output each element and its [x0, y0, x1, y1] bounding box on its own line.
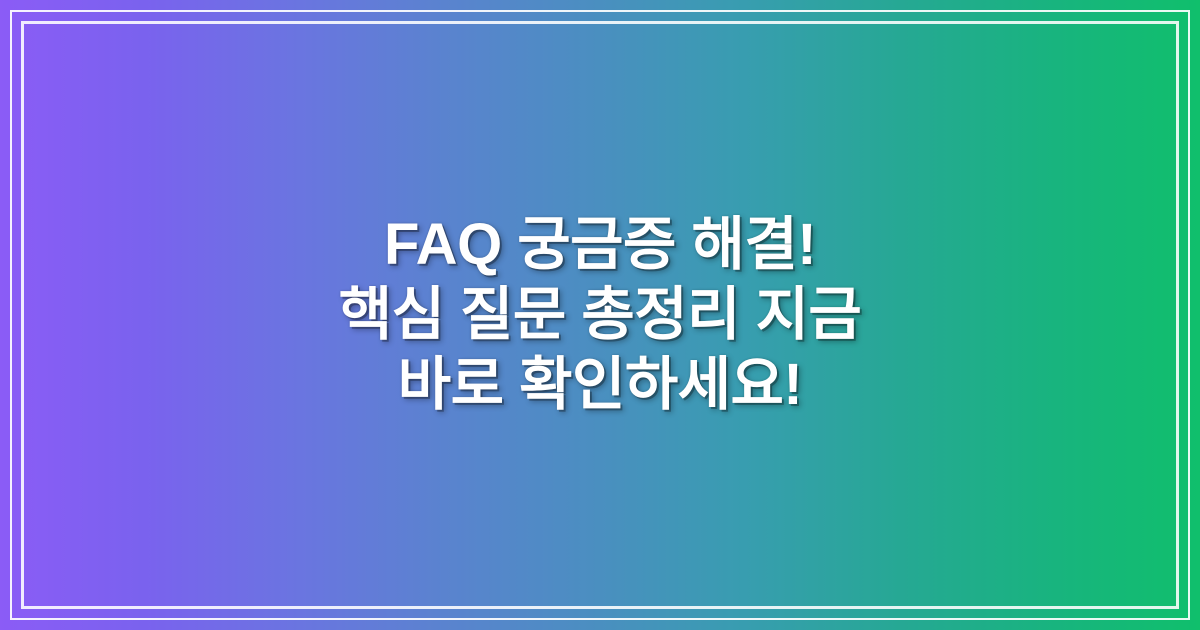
banner-card: FAQ 궁금증 해결! 핵심 질문 총정리 지금 바로 확인하세요! [0, 0, 1200, 630]
headline-text-block: FAQ 궁금증 해결! 핵심 질문 총정리 지금 바로 확인하세요! [0, 210, 1200, 420]
headline-line-1: FAQ 궁금증 해결! [70, 210, 1130, 280]
headline-line-2: 핵심 질문 총정리 지금 [70, 280, 1130, 350]
headline-line-3: 바로 확인하세요! [70, 350, 1130, 420]
